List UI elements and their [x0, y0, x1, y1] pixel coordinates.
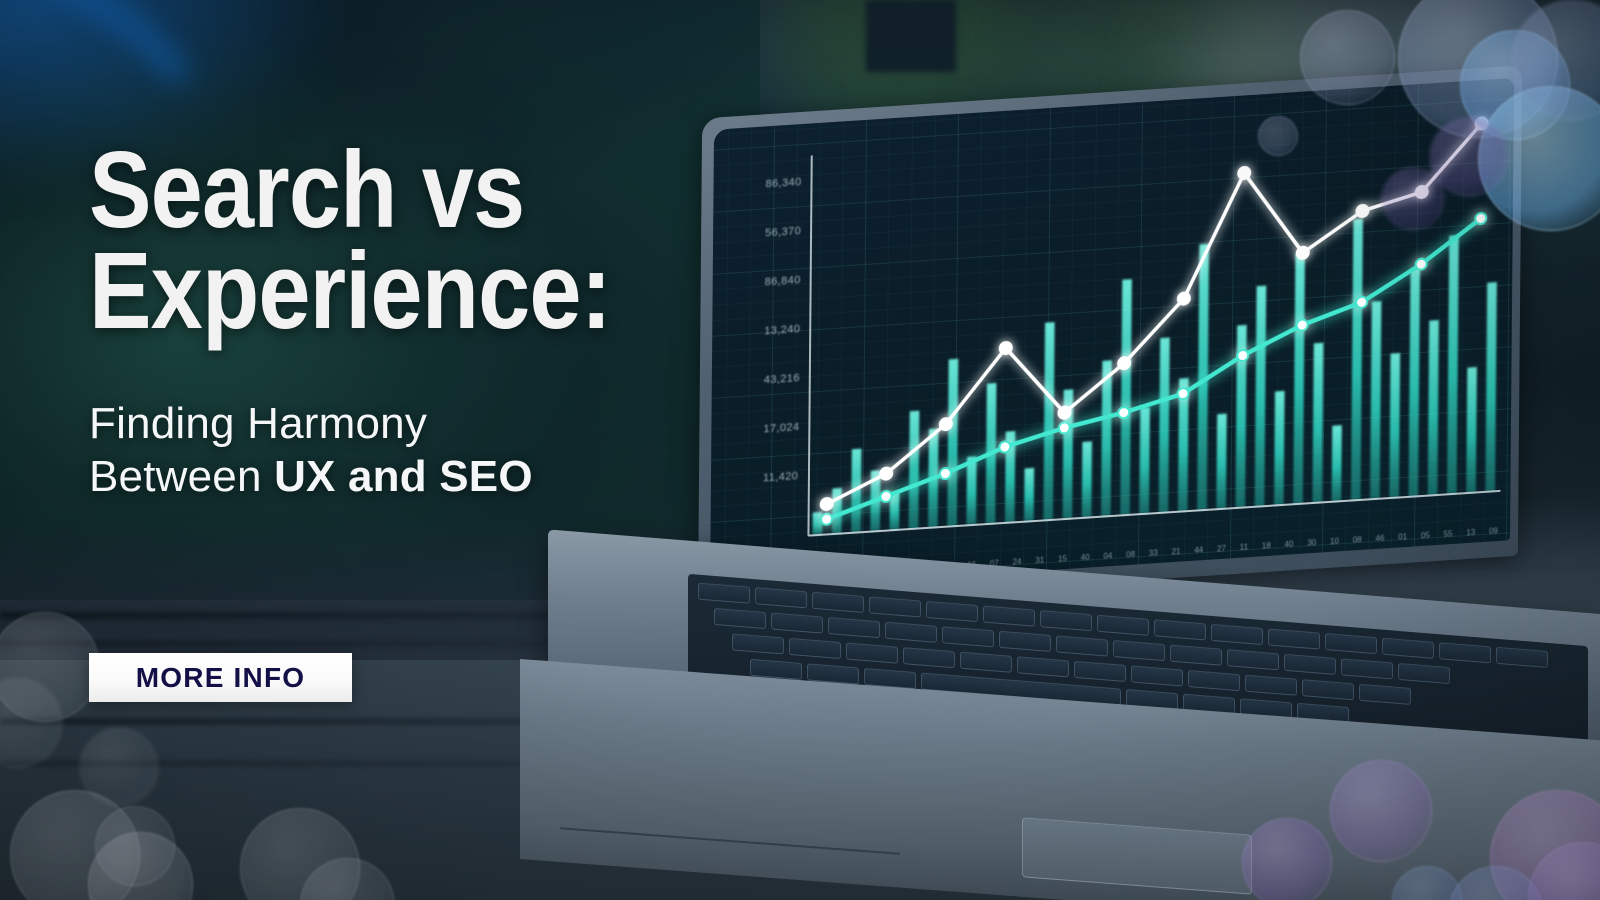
- chart-series-teal: [821, 213, 1486, 525]
- chart-bar: [1101, 360, 1112, 517]
- keyboard-key[interactable]: [1268, 628, 1320, 649]
- bokeh-circle: [95, 806, 175, 886]
- subtitle-line-2: Between UX and SEO: [89, 450, 729, 504]
- x-tick-label: 31: [1035, 555, 1044, 565]
- keyboard-key[interactable]: [1097, 615, 1149, 636]
- chart-bar: [909, 411, 920, 529]
- y-tick-label: 56,370: [765, 221, 865, 277]
- chart-data-point: [1059, 422, 1070, 434]
- chart-bar: [1293, 253, 1305, 505]
- y-tick-label: 86,340: [765, 172, 865, 228]
- keyboard-key[interactable]: [1398, 663, 1450, 684]
- x-tick-label: 40: [1081, 552, 1090, 562]
- subtitle-line-2-prefix: Between: [89, 452, 274, 501]
- chart-bar: [1120, 279, 1132, 515]
- keyboard-key[interactable]: [789, 638, 841, 659]
- keyboard-key[interactable]: [1131, 665, 1183, 686]
- x-tick-label: 18: [1262, 541, 1271, 551]
- chart-data-point: [1237, 350, 1248, 362]
- bokeh-circle: [1300, 10, 1395, 105]
- x-tick-label: 13: [1466, 528, 1475, 538]
- keyboard-key[interactable]: [1496, 647, 1548, 668]
- chart-data-point: [1000, 342, 1012, 355]
- chart-line: [827, 123, 1482, 504]
- chart-data-point: [1356, 205, 1368, 218]
- y-tick-label: 43,216: [763, 368, 863, 424]
- x-tick-label: 01: [1398, 532, 1407, 542]
- keyboard-key[interactable]: [1017, 656, 1069, 677]
- keyboard-key[interactable]: [1188, 670, 1240, 691]
- laptop-screen: 86,340 56,370 86,840 13,240 43,216 17,02…: [710, 78, 1514, 592]
- x-tick-label: 08: [1126, 550, 1135, 560]
- chart-data-point: [1416, 258, 1427, 270]
- chart-bar: [1082, 441, 1092, 518]
- keyboard-key[interactable]: [1359, 684, 1411, 705]
- x-tick-label: 40: [1285, 539, 1294, 549]
- chart-line: [827, 219, 1481, 520]
- bokeh-circle: [1330, 760, 1432, 862]
- keyboard-key[interactable]: [999, 631, 1051, 652]
- y-tick-label: 86,840: [764, 270, 864, 326]
- x-tick-label: 15: [1058, 554, 1067, 564]
- promo-banner: 86,340 56,370 86,840 13,240 43,216 17,02…: [0, 0, 1600, 900]
- headline-block: Search vs Experience: Finding Harmony Be…: [89, 140, 729, 504]
- x-tick-label: 05: [1421, 530, 1430, 540]
- keyboard-key[interactable]: [714, 608, 766, 629]
- more-info-button[interactable]: MORE INFO: [89, 653, 352, 702]
- chart-bar: [1351, 219, 1363, 501]
- keyboard-key[interactable]: [926, 601, 978, 622]
- page-title: Search vs Experience:: [89, 140, 639, 343]
- keyboard-key[interactable]: [1154, 619, 1206, 640]
- keyboard-key[interactable]: [1113, 640, 1165, 661]
- chart-data-point: [1356, 296, 1367, 308]
- x-tick-label: 27: [1217, 544, 1226, 554]
- chart-bar: [1159, 337, 1170, 513]
- x-tick-label: 46: [1375, 533, 1384, 543]
- chart-bar: [1274, 391, 1285, 506]
- keyboard-key[interactable]: [1074, 661, 1126, 682]
- chart-y-axis-labels: 86,340 56,370 86,840 13,240 43,216 17,02…: [763, 172, 866, 522]
- chart-bar: [1447, 235, 1459, 494]
- analytics-chart: 86,340 56,370 86,840 13,240 43,216 17,02…: [710, 78, 1514, 592]
- x-tick-label: 44: [1194, 545, 1203, 555]
- chart-series-white: [821, 117, 1488, 510]
- keyboard-key[interactable]: [942, 626, 994, 647]
- keyboard-key[interactable]: [828, 617, 880, 638]
- keyboard-key[interactable]: [869, 596, 921, 617]
- chart-bar: [1043, 322, 1054, 520]
- keyboard-key[interactable]: [1341, 658, 1393, 679]
- keyboard-key[interactable]: [1325, 633, 1377, 654]
- chart-bar: [1370, 301, 1381, 499]
- keyboard-key[interactable]: [1302, 679, 1354, 700]
- bokeh-circle: [1430, 118, 1508, 196]
- chart-data-point: [1297, 319, 1308, 331]
- y-tick-label: 17,024: [763, 417, 863, 473]
- bokeh-circle: [80, 728, 158, 806]
- chart-bar: [1024, 468, 1034, 522]
- chart-data-point: [1118, 357, 1130, 370]
- chart-bar: [947, 359, 958, 527]
- chart-bar: [1216, 414, 1226, 510]
- chart-data-point: [1058, 406, 1070, 419]
- x-tick-label: 33: [1149, 548, 1158, 558]
- chart-bar: [1139, 407, 1150, 514]
- y-tick-label: 13,240: [764, 319, 864, 375]
- keyboard-key[interactable]: [698, 583, 750, 604]
- chart-bar: [1312, 343, 1323, 503]
- keyboard-key[interactable]: [903, 647, 955, 668]
- chart-data-point: [880, 467, 892, 480]
- keyboard-key[interactable]: [983, 606, 1035, 627]
- subtitle-line-1: Finding Harmony: [89, 397, 729, 451]
- chart-bar: [1389, 353, 1400, 498]
- x-tick-label: 24: [1013, 557, 1022, 567]
- chart-bar: [1485, 282, 1496, 492]
- x-tick-label: 04: [1103, 551, 1112, 561]
- chart-data-point: [1297, 246, 1309, 259]
- keyboard-key[interactable]: [771, 612, 823, 633]
- chart-bar: [1332, 425, 1342, 502]
- headline-line-2: Experience:: [89, 241, 639, 342]
- keyboard-key[interactable]: [960, 652, 1012, 673]
- x-tick-label: 30: [1307, 538, 1316, 548]
- chart-data-point: [999, 441, 1010, 453]
- chart-data-point: [1475, 213, 1486, 225]
- subtitle-line-2-bold: UX and SEO: [274, 452, 533, 501]
- x-tick-label: 10: [1330, 536, 1339, 546]
- chart-bar: [1409, 268, 1421, 497]
- x-tick-label: 09: [1489, 526, 1498, 536]
- keyboard-key[interactable]: [1040, 610, 1092, 631]
- keyboard-key[interactable]: [1245, 675, 1297, 696]
- chart-bar: [1428, 320, 1439, 496]
- x-tick-label: 11: [1240, 542, 1248, 552]
- x-tick-label: 55: [1444, 529, 1453, 539]
- chart-data-point: [1178, 292, 1190, 305]
- keyboard-key[interactable]: [732, 633, 784, 654]
- chart-data-point: [1177, 388, 1188, 400]
- subtitle: Finding Harmony Between UX and SEO: [89, 397, 729, 504]
- chart-bar: [1466, 367, 1477, 493]
- chart-data-point: [940, 418, 952, 431]
- chart-data-point: [1238, 167, 1250, 180]
- x-tick-label: 21: [1172, 547, 1181, 557]
- x-tick-label: 08: [1353, 535, 1362, 545]
- chart-bar: [966, 456, 976, 525]
- chart-bar: [1255, 286, 1267, 507]
- bokeh-circle: [1382, 168, 1444, 230]
- chart-data-point: [1118, 407, 1129, 419]
- bokeh-circle: [1258, 116, 1298, 156]
- keyboard-key[interactable]: [1284, 654, 1336, 675]
- keyboard-key[interactable]: [1227, 649, 1279, 670]
- keyboard-key[interactable]: [1211, 624, 1263, 645]
- chart-data-point: [940, 468, 951, 480]
- keyboard-key[interactable]: [1056, 635, 1108, 656]
- bokeh-circle: [1242, 818, 1332, 900]
- keyboard-key[interactable]: [1382, 638, 1434, 659]
- keyboard-key[interactable]: [1439, 642, 1491, 663]
- y-tick-label: 11,420: [763, 466, 863, 522]
- keyboard-key[interactable]: [846, 643, 898, 664]
- keyboard-key[interactable]: [755, 587, 807, 608]
- keyboard-key[interactable]: [812, 592, 864, 613]
- keyboard-key[interactable]: [1170, 645, 1222, 666]
- chart-data-point: [880, 491, 891, 503]
- more-info-button-label: MORE INFO: [136, 662, 305, 694]
- keyboard-key[interactable]: [885, 622, 937, 643]
